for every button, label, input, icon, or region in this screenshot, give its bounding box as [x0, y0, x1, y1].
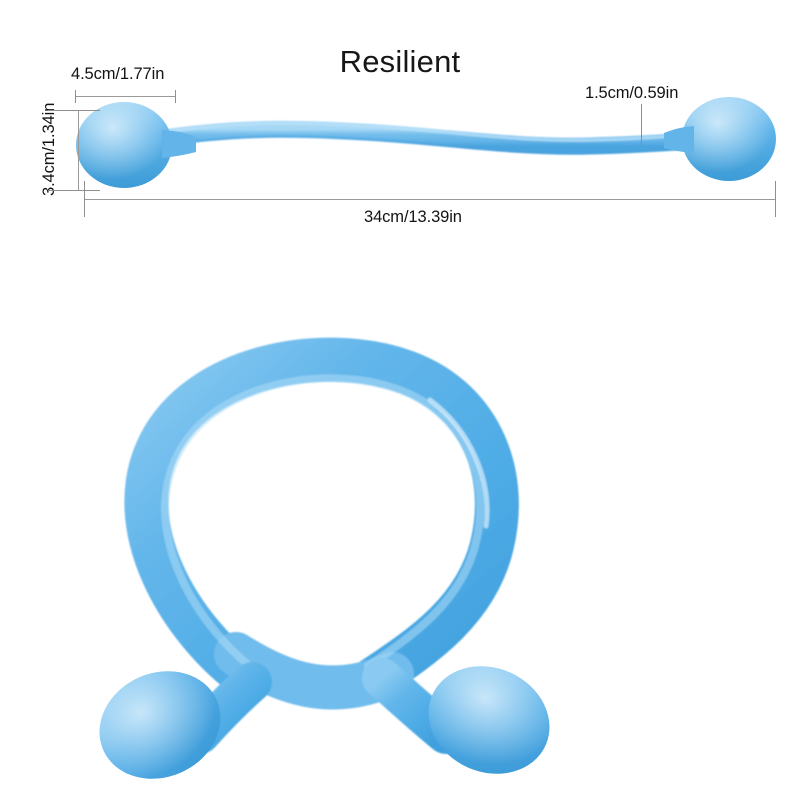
right-ball-end: [664, 97, 776, 181]
cord-thickness-label: 1.5cm/0.59in: [585, 84, 678, 103]
ball-height-label: 3.4cm/1.34in: [40, 103, 59, 196]
product-infographic: Resilient: [0, 0, 800, 800]
total-length-label: 34cm/13.39in: [364, 208, 462, 227]
twisted-loop-illustration: [0, 330, 800, 800]
lower-right-ball-end: [411, 647, 567, 792]
straight-band-figure: 4.5cm/1.77in 3.4cm/1.34in 1.5cm/0.59in 3…: [0, 0, 800, 260]
twisted-loop-figure: [0, 330, 800, 800]
total-length-dimension-line: [84, 199, 776, 200]
ball-height-tick-top: [48, 110, 100, 111]
left-ball-end: [76, 102, 196, 188]
ball-width-label: 4.5cm/1.77in: [71, 65, 164, 84]
ball-height-dimension-line: [78, 110, 79, 190]
total-length-tick-left: [84, 181, 85, 217]
cord-thickness-leader-line: [641, 104, 642, 146]
total-length-tick-right: [775, 181, 776, 217]
ball-width-dimension-line: [75, 96, 176, 97]
ball-width-tick-right: [175, 90, 176, 103]
ball-height-tick-bottom: [48, 190, 100, 191]
ball-width-tick-left: [75, 90, 76, 103]
